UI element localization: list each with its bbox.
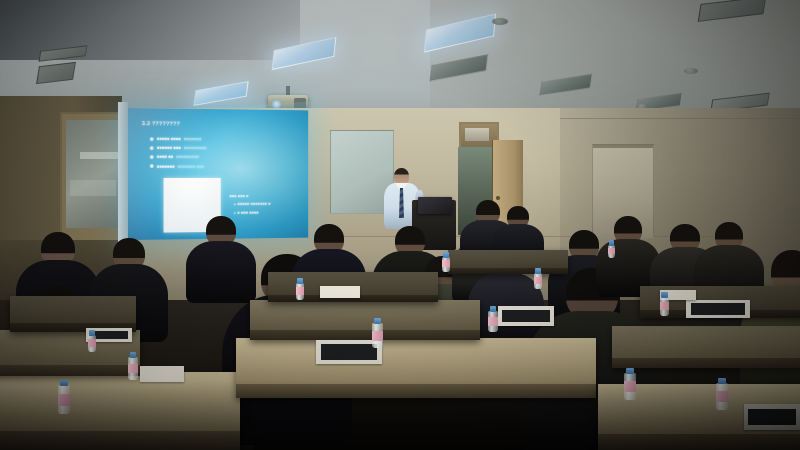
water-bottle-7-label [534,277,542,284]
table-center-front [236,338,596,398]
table-right-front-edge [598,434,800,450]
water-bottle-12-label [608,248,615,254]
water-bottle-8-label [624,381,636,392]
left-window-glare-secondary [70,180,116,196]
water-bottle-1 [58,380,70,414]
smoke-detector-right [684,68,698,74]
water-bottle-3-label [88,339,96,346]
water-bottle-10-label [660,302,669,310]
attendee-back-2 [492,206,544,250]
table-front-left-edge [0,431,240,450]
handout-8 [320,286,360,298]
water-bottle-5-cap-icon [297,278,302,284]
water-bottle-10-cap-icon [661,292,667,298]
handout-2-photo [502,310,549,323]
left-window-glare [80,152,118,159]
water-bottle-9-cap-icon [718,378,726,384]
table-left-row3 [10,296,136,332]
water-bottle-2 [128,352,138,380]
water-bottle-12 [608,240,615,258]
water-bottle-11-label [442,260,450,267]
water-bottle-10 [660,292,669,316]
water-bottle-9-label [716,391,728,402]
table-front-left [0,372,240,450]
table-far-left-back [448,250,568,274]
wall-panel-rail [593,145,653,148]
water-bottle-5-label [296,287,304,294]
table-center-mid-edge [250,330,480,340]
handout-1-photo [321,344,376,359]
table-center-front-edge [236,384,596,398]
table-right-mid [612,326,800,368]
handout-2 [498,306,554,326]
handout-4 [686,300,750,318]
left-window-glass [66,120,118,228]
table-far-left-back-edge [448,268,568,274]
water-bottle-6-label [488,317,498,326]
water-bottle-4-cap-icon [374,318,381,324]
wall-seam-upper [560,118,800,119]
water-bottle-12-cap-icon [609,240,614,246]
water-bottle-2-cap-icon [130,352,137,358]
water-bottle-8-cap-icon [626,368,634,374]
water-bottle-4 [372,318,383,348]
seminar-room-photo: 3.3 ???????? ■■■■■ ■■■■■■■■■■■■■■■■■ ■■■… [0,0,800,450]
water-bottle-6-cap-icon [490,306,497,312]
projection-screen-housing [118,102,128,248]
laptop [418,197,452,214]
water-bottle-1-cap-icon [60,380,68,386]
handout-3-photo [748,409,795,426]
water-bottle-2-label [128,364,138,374]
water-bottle-8 [624,368,636,400]
water-bottle-11 [442,252,450,272]
water-bottle-3 [88,330,96,352]
water-bottle-7 [534,268,542,289]
water-bottle-7-cap-icon [535,268,540,274]
handout-4-photo [691,303,745,315]
table-mid-left-edge [0,365,140,376]
water-bottle-3-cap-icon [89,330,94,336]
smoke-detector-center [492,18,508,25]
water-bottle-9 [716,378,728,410]
table-center-mid [250,300,480,340]
handout-3 [744,404,800,430]
door-transom-glass [465,128,489,141]
table-right-mid-edge [612,358,800,368]
water-bottle-5 [296,278,304,300]
handout-5 [140,366,184,382]
water-bottle-4-label [372,331,383,341]
water-bottle-1-label [58,394,70,406]
water-bottle-11-cap-icon [443,252,448,258]
water-bottle-6 [488,306,498,332]
